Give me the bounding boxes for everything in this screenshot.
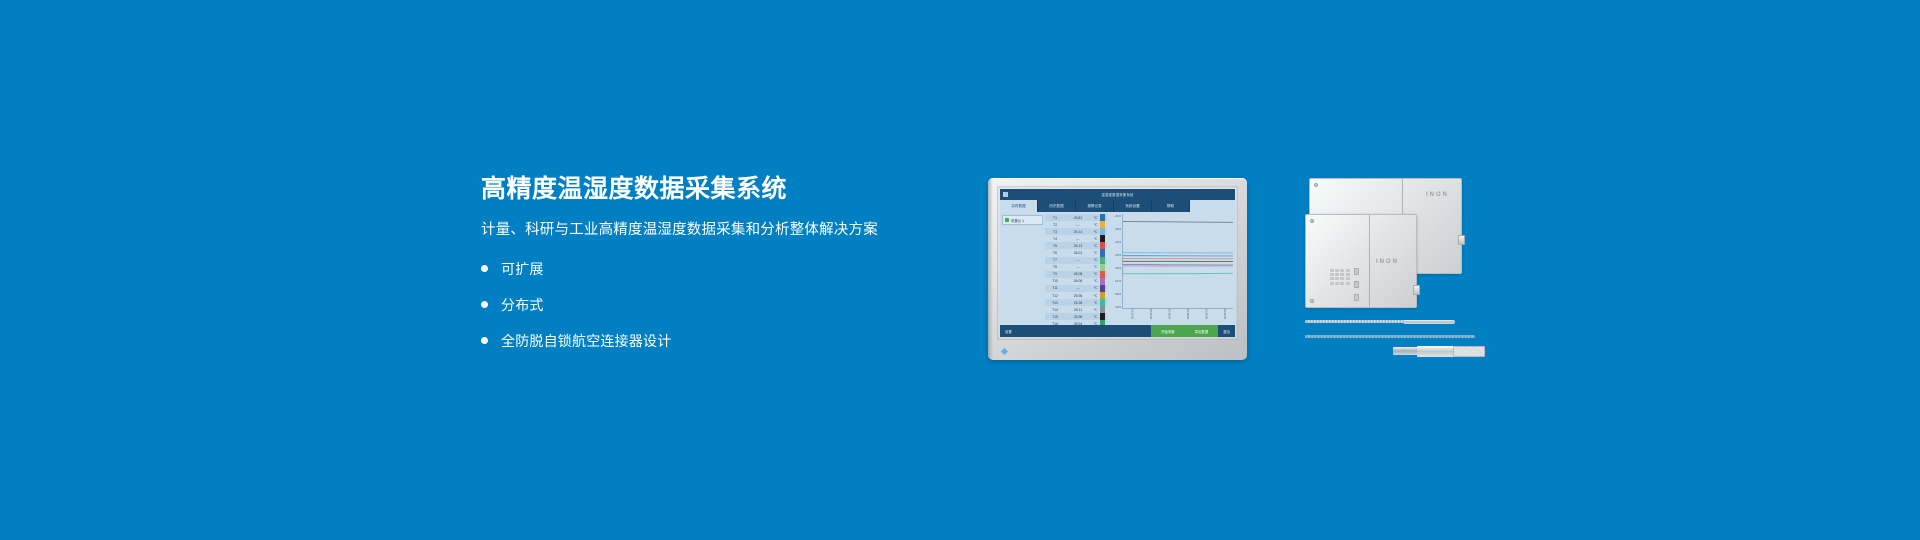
channel-name: T11 [1045, 286, 1065, 290]
power-led-icon [1001, 348, 1008, 355]
channel-value: 26.11 [1065, 308, 1091, 312]
app-footer-bar: 设置 开始采集 导出数据 退出 [1000, 325, 1235, 337]
table-row[interactable]: T11---℃ [1045, 285, 1107, 292]
channel-unit: ℃ [1091, 230, 1100, 234]
y-axis-tick: 22.5 [1109, 266, 1121, 270]
brand-logo: INON [1376, 259, 1399, 265]
channel-value: 26.28 [1065, 301, 1091, 305]
table-row[interactable]: T7---℃ [1045, 257, 1107, 264]
software-screen: 温湿度数据采集系统 实时数据 历史数据 报警记录 系统设置 帮助 采集仪 1 [1000, 189, 1235, 337]
connector-icon [1413, 285, 1420, 295]
screw-icon [1310, 219, 1314, 223]
series-color-swatch [1100, 313, 1105, 320]
app-title: 温湿度数据采集系统 [1101, 192, 1133, 197]
probe-blue-cable [1305, 335, 1477, 339]
channel-name: T15 [1045, 315, 1065, 319]
chart-plot-area [1122, 214, 1233, 309]
page-title: 高精度温湿度数据采集系统 [481, 176, 951, 204]
feature-item-1: 可扩展 [481, 259, 951, 279]
screw-icon [1310, 299, 1314, 303]
x-axis-tick: 10:14:00 [1148, 309, 1151, 324]
y-axis-tick: 24.5 [1109, 240, 1121, 244]
status-dot-icon [1005, 218, 1009, 222]
monitor-screen-frame: 温湿度数据采集系统 实时数据 历史数据 报警记录 系统设置 帮助 采集仪 1 [997, 186, 1238, 340]
chart-y-axis: 26.525.524.523.522.521.520.519.5 [1109, 214, 1121, 309]
channel-value: 26.14 [1065, 230, 1091, 234]
channel-name: T9 [1045, 272, 1065, 276]
channel-value: --- [1065, 223, 1091, 227]
series-color-swatch [1100, 214, 1105, 221]
channel-unit: ℃ [1091, 272, 1100, 276]
channel-value: 26.08 [1065, 279, 1091, 283]
x-axis-tick: 10:22:00 [1222, 309, 1225, 324]
series-color-swatch [1100, 271, 1105, 278]
device-name: 采集仪 1 [1011, 218, 1024, 223]
table-row[interactable]: T526.13℃ [1045, 242, 1107, 249]
feature-list: 可扩展 分布式 全防脱自锁航空连接器设计 [481, 259, 951, 351]
app-content: 采集仪 1 T125.81℃T2---℃T326.14℃T4---℃T526.1… [1000, 212, 1235, 325]
channel-value: --- [1065, 265, 1091, 269]
table-row[interactable]: T1326.28℃ [1045, 299, 1107, 306]
series-color-swatch [1100, 264, 1105, 271]
series-color-swatch [1100, 299, 1105, 306]
y-axis-tick: 26.5 [1109, 214, 1121, 218]
channel-unit: ℃ [1091, 216, 1100, 220]
series-color-swatch [1100, 257, 1105, 264]
table-row[interactable]: T1426.11℃ [1045, 306, 1107, 313]
device-tree-item[interactable]: 采集仪 1 [1002, 215, 1043, 225]
probe-cable [1305, 335, 1475, 338]
channel-value: --- [1065, 258, 1091, 262]
tab-realtime[interactable]: 实时数据 [1000, 200, 1038, 212]
series-color-swatch [1100, 306, 1105, 313]
chart-x-axis: 10:12:0010:14:0010:16:0010:18:0010:20:00… [1122, 309, 1233, 324]
data-logger-front-unit: INON [1305, 214, 1417, 308]
feature-item-2: 分布式 [481, 295, 951, 315]
channel-name: T4 [1045, 237, 1065, 241]
table-row[interactable]: T2---℃ [1045, 221, 1107, 228]
page-subtitle: 计量、科研与工业高精度温湿度数据采集和分析整体解决方案 [481, 222, 951, 239]
port-icon [1354, 294, 1359, 301]
probe-tip [1403, 320, 1455, 324]
series-color-swatch [1100, 235, 1105, 242]
channel-name: T14 [1045, 308, 1065, 312]
table-row[interactable]: T626.01℃ [1045, 249, 1107, 256]
y-axis-tick: 20.5 [1109, 292, 1121, 296]
tab-help[interactable]: 帮助 [1152, 200, 1190, 212]
settings-button[interactable]: 设置 [1000, 327, 1017, 335]
x-axis-tick: 10:16:00 [1167, 309, 1170, 324]
table-row[interactable]: T926.08℃ [1045, 271, 1107, 278]
y-axis-tick: 21.5 [1109, 279, 1121, 283]
probe-braided [1305, 320, 1457, 325]
tab-alarms[interactable]: 报警记录 [1076, 200, 1114, 212]
monitor-chin [988, 340, 1247, 360]
channel-value: 26.08 [1065, 272, 1091, 276]
tab-settings[interactable]: 系统设置 [1114, 200, 1152, 212]
table-row[interactable]: T1026.08℃ [1045, 278, 1107, 285]
x-axis-tick: 10:20:00 [1204, 309, 1207, 324]
y-axis-tick: 19.5 [1109, 305, 1121, 309]
series-color-swatch [1100, 242, 1105, 249]
panel-pc-device: 温湿度数据采集系统 实时数据 历史数据 报警记录 系统设置 帮助 采集仪 1 [988, 178, 1247, 360]
chart-series-svg [1123, 214, 1233, 308]
series-color-swatch [1100, 292, 1105, 299]
channel-unit: ℃ [1091, 223, 1100, 227]
channel-unit: ℃ [1091, 308, 1100, 312]
table-row[interactable]: T8---℃ [1045, 264, 1107, 271]
probe-connector [1305, 348, 1485, 360]
channel-name: T2 [1045, 223, 1065, 227]
panel-seam [1369, 215, 1370, 307]
bullet-icon [481, 301, 488, 308]
export-data-button[interactable]: 导出数据 [1185, 325, 1219, 337]
channel-value: 26.01 [1065, 251, 1091, 255]
channel-value: 25.96 [1065, 294, 1091, 298]
channel-unit: ℃ [1091, 286, 1100, 290]
channel-unit: ℃ [1091, 237, 1100, 241]
screw-icon [1314, 183, 1318, 187]
channel-value: 25.81 [1065, 216, 1091, 220]
channel-unit: ℃ [1091, 301, 1100, 305]
channel-value: --- [1065, 286, 1091, 290]
y-axis-tick: 25.5 [1109, 227, 1121, 231]
series-color-swatch [1100, 228, 1105, 235]
tab-history[interactable]: 历史数据 [1038, 200, 1076, 212]
trend-chart: 26.525.524.523.522.521.520.519.5 10:12:0… [1107, 212, 1235, 325]
x-axis-tick: 10:18:00 [1185, 309, 1188, 324]
tab-bar-filler [1190, 200, 1235, 212]
probe-cable [1305, 320, 1405, 323]
channel-name: T6 [1045, 251, 1065, 255]
channel-name: T8 [1045, 265, 1065, 269]
hero-banner: 高精度温湿度数据采集系统 计量、科研与工业高精度温湿度数据采集和分析整体解决方案… [0, 0, 1920, 540]
series-color-swatch [1100, 221, 1105, 228]
channel-unit: ℃ [1091, 294, 1100, 298]
channel-unit: ℃ [1091, 251, 1100, 255]
series-color-swatch [1100, 285, 1105, 292]
feature-label: 全防脱自锁航空连接器设计 [501, 331, 671, 351]
table-row[interactable]: T1525.96℃ [1045, 313, 1107, 320]
channel-value: --- [1065, 237, 1091, 241]
port-icon [1354, 281, 1359, 288]
connector-icon [1458, 235, 1465, 245]
channel-name: T7 [1045, 258, 1065, 262]
series-color-swatch [1100, 249, 1105, 256]
hero-copy: 高精度温湿度数据采集系统 计量、科研与工业高精度温湿度数据采集和分析整体解决方案… [481, 176, 951, 367]
channel-table[interactable]: T125.81℃T2---℃T326.14℃T4---℃T526.13℃T626… [1045, 212, 1107, 325]
channel-name: T3 [1045, 230, 1065, 234]
channel-value: 25.96 [1065, 315, 1091, 319]
channel-name: T12 [1045, 294, 1065, 298]
bullet-icon [481, 337, 488, 344]
port-icon [1354, 268, 1359, 275]
probe-ferrule [1393, 347, 1419, 355]
hardware-group: INON INON [1303, 176, 1483, 362]
brand-logo: INON [1426, 192, 1449, 198]
channel-unit: ℃ [1091, 265, 1100, 269]
channel-name: T5 [1045, 244, 1065, 248]
channel-name: T10 [1045, 279, 1065, 283]
terminal-block-icon [1330, 269, 1350, 285]
channel-value: 26.13 [1065, 244, 1091, 248]
series-color-swatch [1100, 278, 1105, 285]
channel-name: T1 [1045, 216, 1065, 220]
app-tab-bar: 实时数据 历史数据 报警记录 系统设置 帮助 [1000, 200, 1235, 212]
exit-button[interactable]: 退出 [1218, 327, 1235, 335]
table-row[interactable]: T4---℃ [1045, 235, 1107, 242]
app-titlebar: 温湿度数据采集系统 [1000, 189, 1235, 200]
probe-sensor-filter [1453, 346, 1485, 357]
channel-name: T13 [1045, 301, 1065, 305]
channel-unit: ℃ [1091, 315, 1100, 319]
device-tree-panel: 采集仪 1 [1000, 212, 1045, 325]
table-row[interactable]: T125.81℃ [1045, 214, 1107, 221]
channel-unit: ℃ [1091, 244, 1100, 248]
chart-series-line [1123, 221, 1233, 222]
bullet-icon [481, 265, 488, 272]
start-capture-button[interactable]: 开始采集 [1151, 325, 1185, 337]
y-axis-tick: 23.5 [1109, 253, 1121, 257]
feature-item-3: 全防脱自锁航空连接器设计 [481, 331, 951, 351]
table-row[interactable]: T1225.96℃ [1045, 292, 1107, 299]
channel-unit: ℃ [1091, 258, 1100, 262]
feature-label: 可扩展 [501, 259, 544, 279]
app-logo-icon [1003, 192, 1008, 197]
feature-label: 分布式 [501, 295, 544, 315]
channel-unit: ℃ [1091, 279, 1100, 283]
table-row[interactable]: T326.14℃ [1045, 228, 1107, 235]
x-axis-tick: 10:12:00 [1130, 309, 1133, 324]
